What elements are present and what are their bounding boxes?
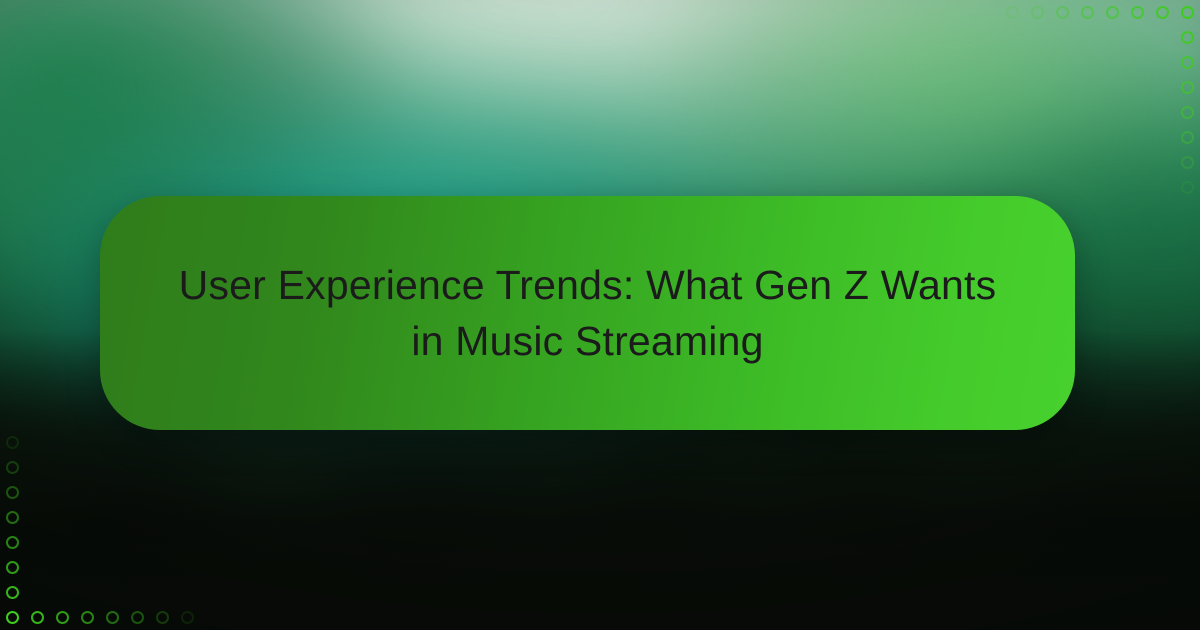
decor-ring [1181,31,1194,44]
decor-ring [1156,6,1169,19]
decor-ring [1131,6,1144,19]
page-title: User Experience Trends: What Gen Z Wants… [120,257,1056,369]
og-card-canvas: User Experience Trends: What Gen Z Wants… [0,0,1200,630]
decor-ring [81,611,94,624]
corner-dot-grid-top-right [970,0,1200,220]
decor-ring [1056,6,1069,19]
decor-ring [156,611,169,624]
corner-dot-grid-bottom-left [0,410,230,630]
decor-ring [181,611,194,624]
decor-ring [6,561,19,574]
decor-ring [1106,6,1119,19]
decor-ring [1081,6,1094,19]
decor-ring [6,586,19,599]
decor-ring [6,611,19,624]
decor-ring [106,611,119,624]
decor-ring [1181,81,1194,94]
decor-ring [6,536,19,549]
title-card: User Experience Trends: What Gen Z Wants… [100,196,1075,430]
decor-ring [1006,6,1019,19]
decor-ring [56,611,69,624]
decor-ring [6,461,19,474]
decor-ring [1181,56,1194,69]
decor-ring [6,486,19,499]
decor-ring [6,511,19,524]
decor-ring [1181,6,1194,19]
decor-ring [131,611,144,624]
decor-ring [1031,6,1044,19]
decor-ring [1181,181,1194,194]
decor-ring [1181,156,1194,169]
decor-ring [31,611,44,624]
decor-ring [1181,106,1194,119]
decor-ring [6,436,19,449]
decor-ring [1181,131,1194,144]
